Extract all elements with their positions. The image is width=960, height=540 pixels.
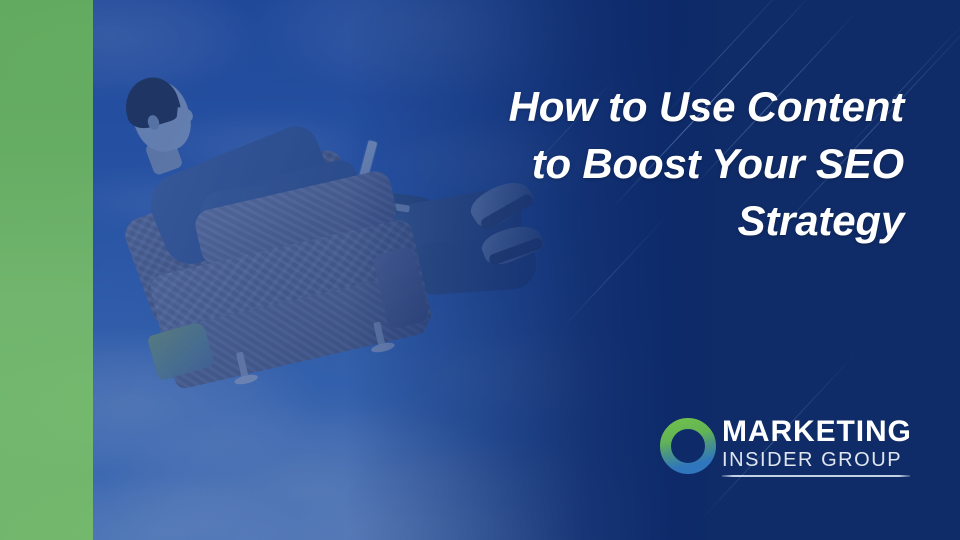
slide-canvas: How to Use Content to Boost Your SEO Str… <box>0 0 960 540</box>
page-title: How to Use Content to Boost Your SEO Str… <box>344 78 904 249</box>
brand-logo[interactable]: MARKETING INSIDER GROUP <box>660 415 910 493</box>
brand-wordmark: MARKETING INSIDER GROUP <box>722 415 910 477</box>
green-accent-band <box>0 0 93 540</box>
ring-logo-icon <box>660 418 716 474</box>
brand-primary-text: MARKETING <box>722 415 910 448</box>
brand-divider-rule <box>722 475 910 477</box>
brand-secondary-text: INSIDER GROUP <box>722 448 910 472</box>
